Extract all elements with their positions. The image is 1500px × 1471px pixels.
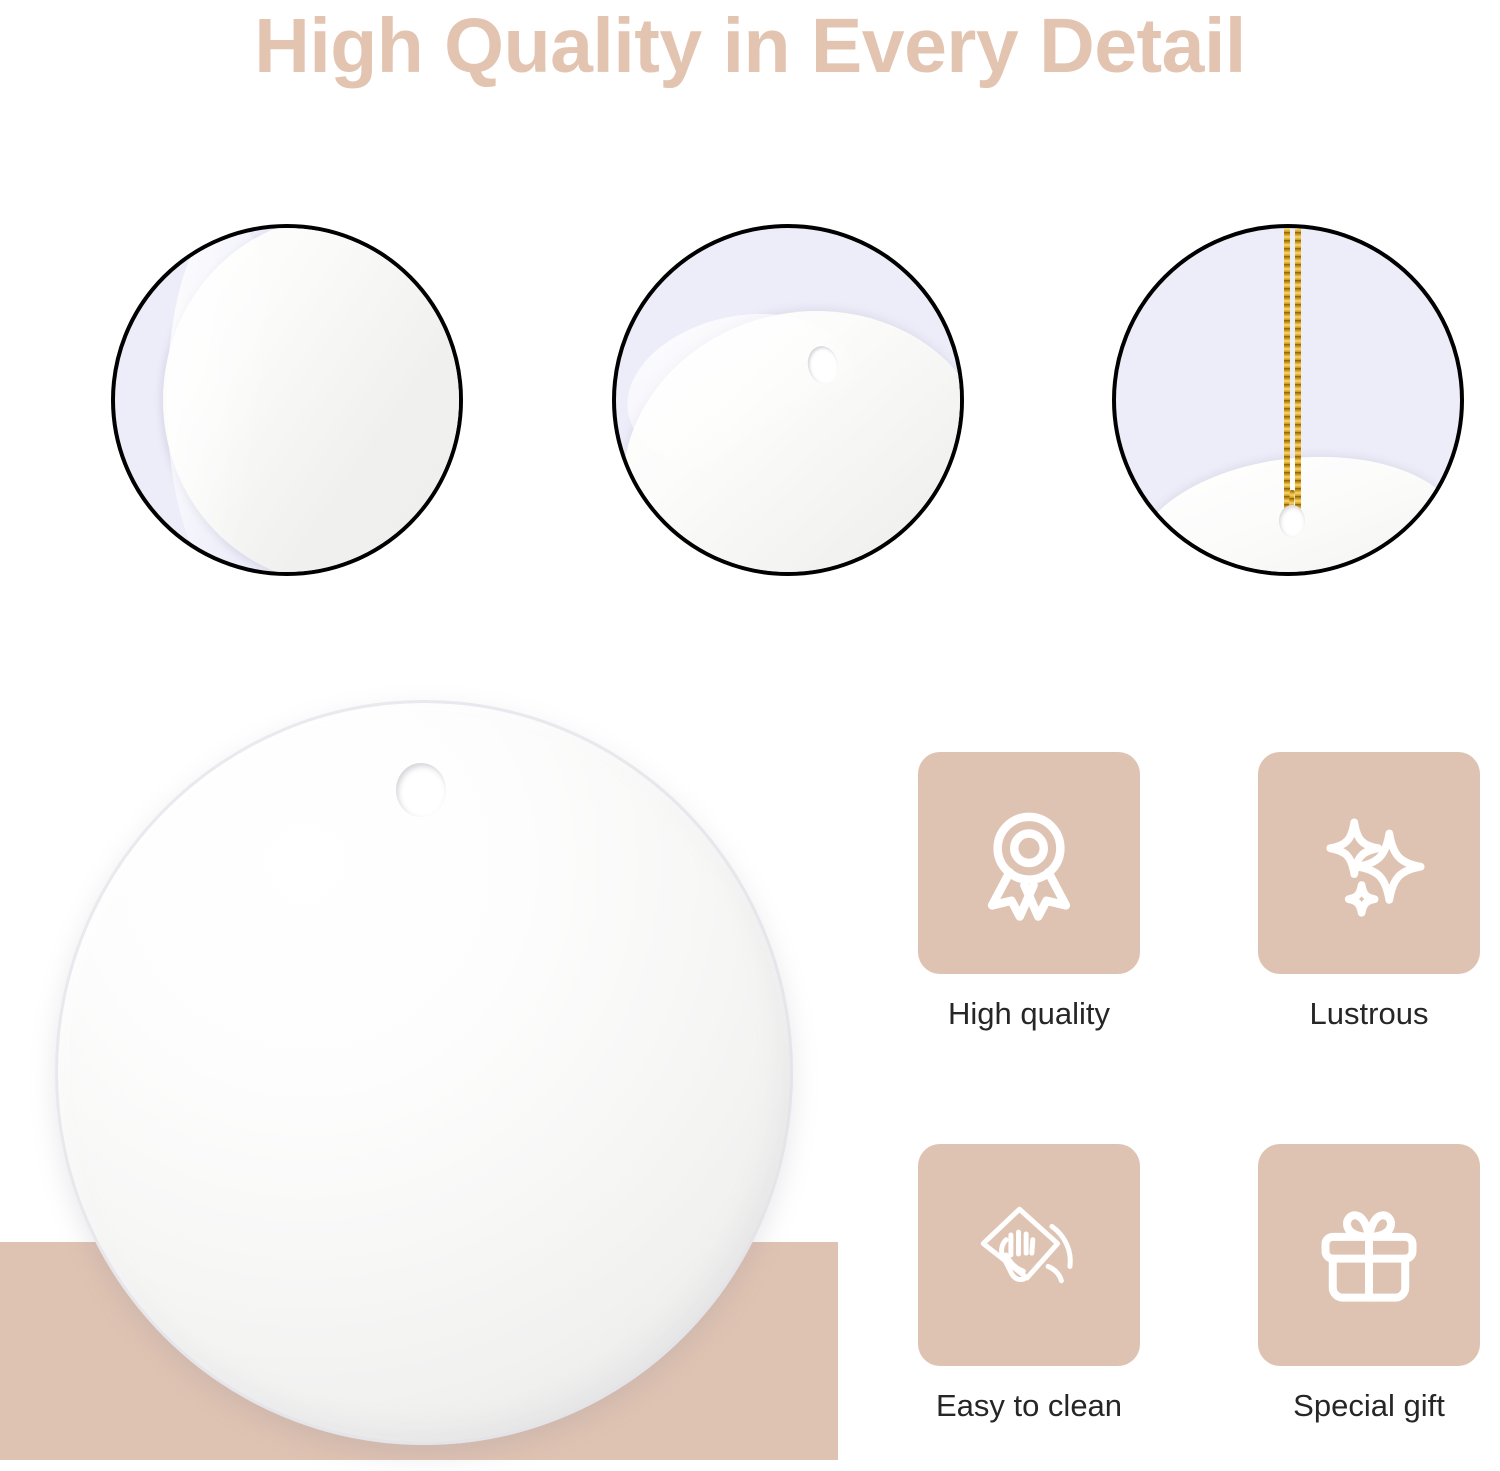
feature-label: Special gift [1258,1388,1480,1424]
feature-label: Easy to clean [918,1388,1140,1424]
gift-box-icon [1311,1197,1427,1313]
wiping-cloth-icon [968,1194,1090,1316]
feature-easy-to-clean[interactable]: Easy to clean [918,1144,1140,1424]
gold-chain-strand-right [1295,224,1301,514]
hanging-hole [1279,505,1305,537]
feature-label: High quality [918,996,1140,1032]
feature-label: Lustrous [1258,996,1480,1032]
award-ribbon-icon [970,804,1088,922]
feature-tile [918,752,1140,974]
feature-tile [918,1144,1140,1366]
detail-inset-gold-chain [1112,224,1464,576]
sparkles-icon [1310,804,1428,922]
feature-special-gift[interactable]: Special gift [1258,1144,1480,1424]
gold-chain-strand-left [1284,224,1290,514]
feature-tile [1258,1144,1480,1366]
detail-inset-edge-thickness [111,224,463,576]
detail-inset-hanging-hole [612,224,964,576]
feature-tile [1258,752,1480,974]
feature-high-quality[interactable]: High quality [918,752,1140,1032]
page-title: High Quality in Every Detail [0,2,1500,91]
feature-lustrous[interactable]: Lustrous [1258,752,1480,1032]
disc-edge-highlight [167,224,287,576]
hero-hanging-hole [396,763,446,817]
product-infographic: High Quality in Every Detail [0,0,1500,1471]
